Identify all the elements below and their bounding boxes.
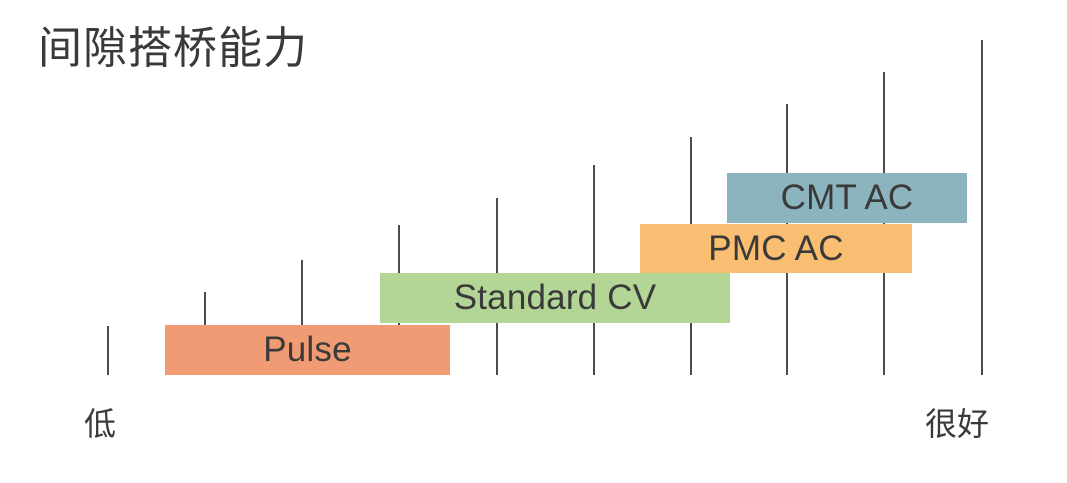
bar-label-standard-cv: Standard CV — [454, 278, 657, 318]
bar-pulse: Pulse — [165, 325, 450, 375]
bar-standard-cv: Standard CV — [380, 273, 730, 323]
bar-pmc-ac: PMC AC — [640, 224, 912, 273]
chart-canvas: 间隙搭桥能力 Pulse Standard CV PMC AC CMT AC 低… — [0, 0, 1067, 483]
axis-tick-1 — [107, 326, 109, 375]
bar-label-pmc-ac: PMC AC — [708, 229, 843, 269]
axis-label-high: 很好 — [925, 399, 989, 445]
bar-cmt-ac: CMT AC — [727, 173, 967, 223]
axis-label-low: 低 — [84, 399, 116, 445]
axis-tick-10 — [981, 40, 983, 375]
bar-label-cmt-ac: CMT AC — [781, 178, 914, 218]
axis-tick-6 — [593, 165, 595, 375]
bar-label-pulse: Pulse — [263, 330, 352, 370]
page-title: 间隙搭桥能力 — [38, 24, 308, 75]
